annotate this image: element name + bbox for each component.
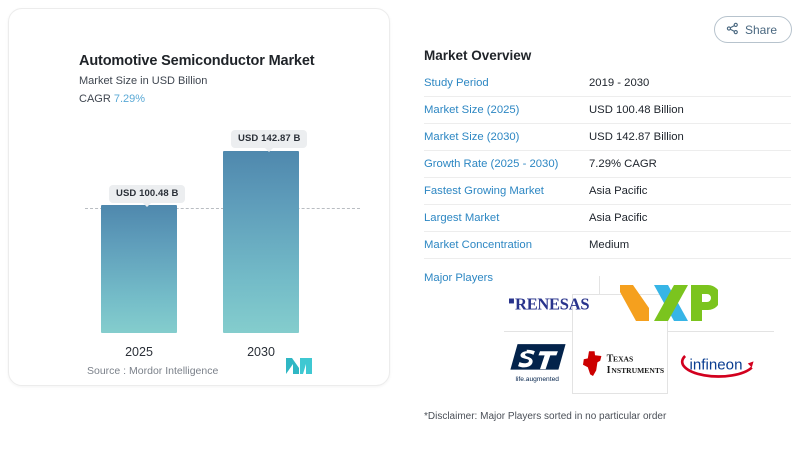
svg-text:T: T — [607, 354, 614, 365]
x-tick-2025: 2025 — [101, 345, 177, 359]
table-row[interactable]: Study Period 2019 - 2030 — [424, 70, 791, 97]
infineon-logo: infineon — [676, 344, 760, 384]
source-text: Source : Mordor Intelligence — [87, 365, 218, 377]
row-value: Medium — [589, 239, 629, 251]
bar-label-2030: USD 142.87 B — [231, 130, 307, 148]
nxp-logo — [616, 280, 720, 326]
screenshot-root: Automotive Semiconductor Market Market S… — [0, 0, 800, 450]
bar-label-2025: USD 100.48 B — [109, 185, 185, 203]
row-key[interactable]: Fastest Growing Market — [424, 185, 589, 197]
table-row[interactable]: Largest Market Asia Pacific — [424, 205, 791, 232]
share-nodes-icon — [726, 22, 739, 38]
row-value: 7.29% CAGR — [589, 158, 657, 170]
major-players-logo-grid: RENESAS life.augmented — [504, 276, 774, 394]
share-button-label: Share — [745, 23, 777, 37]
row-value: USD 142.87 Billion — [589, 131, 684, 143]
overview-table: Study Period 2019 - 2030 Market Size (20… — [424, 70, 791, 259]
row-key[interactable]: Study Period — [424, 77, 589, 89]
bar-chart-plot: USD 100.48 B USD 142.87 B 2025 2030 — [9, 9, 391, 387]
row-key[interactable]: Market Size (2030) — [424, 131, 589, 143]
table-row[interactable]: Market Concentration Medium — [424, 232, 791, 259]
svg-text:RENESAS: RENESAS — [515, 295, 589, 314]
table-row[interactable]: Fastest Growing Market Asia Pacific — [424, 178, 791, 205]
disclaimer-text: *Disclaimer: Major Players sorted in no … — [424, 411, 666, 422]
major-players-label[interactable]: Major Players — [424, 272, 493, 284]
table-row[interactable]: Market Size (2030) USD 142.87 Billion — [424, 124, 791, 151]
market-overview-panel: Share Market Overview Study Period 2019 … — [424, 0, 800, 450]
renesas-logo: RENESAS — [508, 284, 598, 324]
table-row[interactable]: Growth Rate (2025 - 2030) 7.29% CAGR — [424, 151, 791, 178]
share-button[interactable]: Share — [714, 16, 792, 43]
row-value: Asia Pacific — [589, 185, 647, 197]
svg-text:infineon: infineon — [690, 356, 743, 373]
row-key[interactable]: Largest Market — [424, 212, 589, 224]
bar-2030[interactable] — [223, 151, 299, 333]
row-value: Asia Pacific — [589, 212, 647, 224]
row-value: 2019 - 2030 — [589, 77, 649, 89]
chart-card: Automotive Semiconductor Market Market S… — [8, 8, 390, 386]
row-value: USD 100.48 Billion — [589, 104, 684, 116]
table-row[interactable]: Market Size (2025) USD 100.48 Billion — [424, 97, 791, 124]
st-logo: life.augmented — [504, 338, 574, 388]
texas-instruments-logo: T EXAS I NSTRUMENTS — [576, 342, 666, 386]
bar-2025[interactable] — [101, 205, 177, 333]
row-key[interactable]: Market Concentration — [424, 239, 589, 251]
svg-text:life.augmented: life.augmented — [515, 376, 559, 383]
svg-text:NSTRUMENTS: NSTRUMENTS — [611, 366, 664, 375]
svg-text:I: I — [607, 365, 611, 376]
row-key[interactable]: Market Size (2025) — [424, 104, 589, 116]
row-key[interactable]: Growth Rate (2025 - 2030) — [424, 158, 589, 170]
mordor-intelligence-logo — [286, 357, 312, 380]
panel-title: Market Overview — [424, 48, 531, 63]
svg-text:EXAS: EXAS — [613, 355, 633, 364]
